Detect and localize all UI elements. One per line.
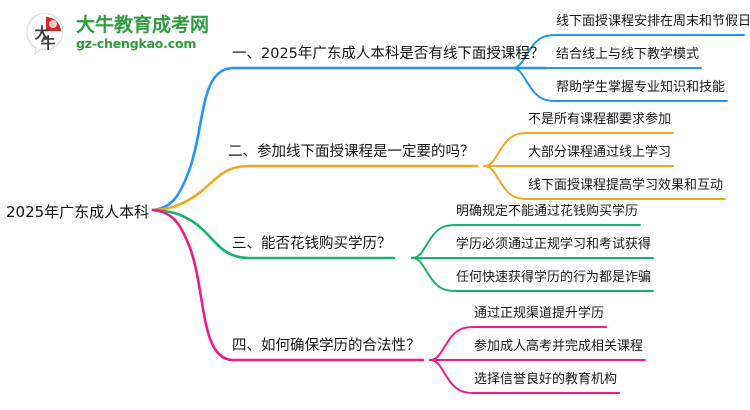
leaf-node-2-3[interactable]: 线下面授课程提高学习效果和互动: [528, 174, 723, 193]
leaf-node-1-3[interactable]: 帮助学生掌握专业知识和技能: [556, 76, 725, 95]
leaf-node-4-2[interactable]: 参加成人高考并完成相关课程: [474, 335, 643, 354]
branch-node-4[interactable]: 四、如何确保学历的合法性？: [232, 334, 421, 355]
leaf-node-3-2[interactable]: 学历必须通过正规学习和考试获得: [456, 233, 651, 252]
branch-node-1[interactable]: 一、2025年广东成人本科是否有线下面授课程？: [232, 42, 544, 63]
logo-mark-icon: 大 牛: [22, 10, 68, 56]
logo-domain: gz-chengkao.com: [76, 38, 209, 51]
leaf-node-2-1[interactable]: 不是所有课程都要求参加: [528, 108, 671, 127]
leaf-node-4-1[interactable]: 通过正规渠道提升学历: [474, 302, 604, 321]
branch-connector-1: [153, 68, 546, 210]
logo-title: 大牛教育成考网: [76, 16, 209, 35]
leaf-node-2-2[interactable]: 大部分课程通过线上学习: [528, 141, 671, 160]
mindmap-root-node[interactable]: 2025年广东成人本科: [6, 201, 149, 222]
leaf-node-1-2[interactable]: 结合线上与线下教学模式: [556, 43, 699, 62]
site-logo: 大 牛 大牛教育成考网 gz-chengkao.com: [22, 10, 209, 56]
branch-connector-2: [153, 166, 477, 210]
branch-node-3[interactable]: 三、能否花钱购买学历？: [232, 232, 392, 253]
branch-node-2[interactable]: 二、参加线下面授课程是一定要的吗？: [228, 140, 475, 161]
svg-text:牛: 牛: [40, 34, 55, 52]
leaf-node-1-1[interactable]: 线下面授课程安排在周末和节假日: [556, 10, 750, 29]
leaf-node-3-3[interactable]: 任何快速获得学历的行为都是诈骗: [456, 266, 651, 285]
leaf-node-4-3[interactable]: 选择信誉良好的教育机构: [474, 368, 617, 387]
leaf-node-3-1[interactable]: 明确规定不能通过花钱购买学历: [456, 200, 638, 219]
